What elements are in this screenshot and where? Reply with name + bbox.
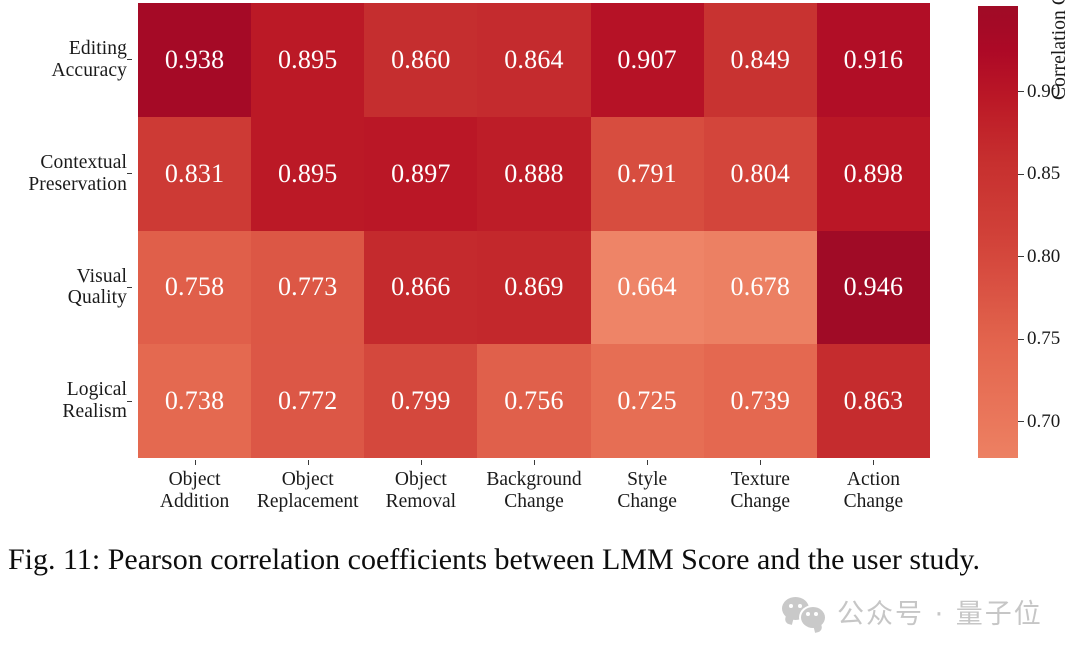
x-axis-tick bbox=[421, 460, 422, 465]
heatmap-cell: 0.895 bbox=[251, 117, 364, 231]
x-axis-label: Background Change bbox=[477, 460, 590, 520]
x-axis-label: Object Replacement bbox=[251, 460, 364, 520]
figure-caption: Fig. 11: Pearson correlation coefficient… bbox=[8, 540, 1063, 580]
colorbar-tick-label: 0.70 bbox=[1027, 411, 1060, 433]
x-axis-label: Object Addition bbox=[138, 460, 251, 520]
heatmap-cell: 0.758 bbox=[138, 231, 251, 345]
heatmap-cell: 0.860 bbox=[364, 3, 477, 117]
heatmap-cell: 0.756 bbox=[477, 344, 590, 458]
heatmap-cell: 0.773 bbox=[251, 231, 364, 345]
heatmap-cell: 0.831 bbox=[138, 117, 251, 231]
heatmap-cell: 0.678 bbox=[704, 231, 817, 345]
y-axis-label: Contextual Preservation bbox=[0, 117, 132, 231]
colorbar-tick-label: 0.85 bbox=[1027, 163, 1060, 185]
wechat-icon bbox=[782, 597, 828, 627]
y-axis-tick bbox=[127, 287, 132, 288]
heatmap-cell: 0.869 bbox=[477, 231, 590, 345]
heatmap-cell: 0.791 bbox=[591, 117, 704, 231]
x-axis-tick bbox=[534, 460, 535, 465]
colorbar-tick-mark bbox=[1018, 91, 1024, 92]
x-axis-tick bbox=[195, 460, 196, 465]
watermark-text: 公众号 · 量子位 bbox=[837, 592, 1043, 631]
x-axis-tick bbox=[873, 460, 874, 465]
heatmap-cell: 0.888 bbox=[477, 117, 590, 231]
heatmap-cell: 0.907 bbox=[591, 3, 704, 117]
heatmap-cell: 0.864 bbox=[477, 3, 590, 117]
heatmap-cell: 0.738 bbox=[138, 344, 251, 458]
y-axis-label: Editing Accuracy bbox=[0, 3, 132, 117]
y-axis-tick bbox=[127, 173, 132, 174]
colorbar-title: Correlation Coefficient bbox=[1049, 0, 1071, 100]
colorbar-gradient bbox=[978, 6, 1018, 458]
colorbar-tick-mark bbox=[1018, 339, 1024, 340]
colorbar-tick-label: 0.75 bbox=[1027, 328, 1060, 350]
x-axis-tick bbox=[647, 460, 648, 465]
colorbar-tick-mark bbox=[1018, 421, 1024, 422]
heatmap-cell: 0.938 bbox=[138, 3, 251, 117]
x-axis-label: Texture Change bbox=[704, 460, 817, 520]
heatmap-cell: 0.664 bbox=[591, 231, 704, 345]
heatmap-cell: 0.772 bbox=[251, 344, 364, 458]
y-axis-labels: Editing AccuracyContextual PreservationV… bbox=[0, 3, 132, 458]
heatmap-cell: 0.898 bbox=[817, 117, 930, 231]
x-axis-label: Action Change bbox=[817, 460, 930, 520]
y-axis-label: Visual Quality bbox=[0, 231, 132, 345]
y-axis-label: Logical Realism bbox=[0, 344, 132, 458]
heatmap-cell: 0.863 bbox=[817, 344, 930, 458]
heatmap-cell: 0.916 bbox=[817, 3, 930, 117]
x-axis-tick bbox=[308, 460, 309, 465]
x-axis-labels: Object AdditionObject ReplacementObject … bbox=[138, 460, 930, 520]
colorbar-tick-mark bbox=[1018, 256, 1024, 257]
heatmap-cell: 0.804 bbox=[704, 117, 817, 231]
heatmap-cell: 0.946 bbox=[817, 231, 930, 345]
y-axis-tick bbox=[127, 401, 132, 402]
colorbar-tick-mark bbox=[1018, 174, 1024, 175]
heatmap-cell: 0.739 bbox=[704, 344, 817, 458]
y-axis-tick bbox=[127, 59, 132, 60]
heatmap-cell: 0.866 bbox=[364, 231, 477, 345]
heatmap-figure: Editing AccuracyContextual PreservationV… bbox=[0, 0, 1080, 520]
heatmap-cell: 0.849 bbox=[704, 3, 817, 117]
colorbar-tick-label: 0.80 bbox=[1027, 246, 1060, 268]
heatmap-cell: 0.725 bbox=[591, 344, 704, 458]
watermark: 公众号 · 量子位 bbox=[782, 592, 1043, 631]
x-axis-label: Style Change bbox=[591, 460, 704, 520]
heatmap-cell: 0.799 bbox=[364, 344, 477, 458]
x-axis-tick bbox=[760, 460, 761, 465]
heatmap-cell: 0.897 bbox=[364, 117, 477, 231]
heatmap-cell: 0.895 bbox=[251, 3, 364, 117]
heatmap-grid: 0.9380.8950.8600.8640.9070.8490.9160.831… bbox=[138, 3, 930, 458]
x-axis-label: Object Removal bbox=[364, 460, 477, 520]
